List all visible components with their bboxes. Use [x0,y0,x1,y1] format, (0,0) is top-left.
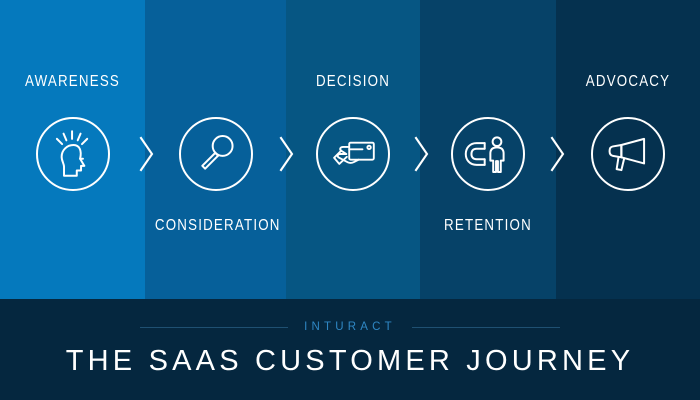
brand-rule-left [140,327,288,328]
icon-circle-advocacy [591,117,665,191]
journey-stages: AWARENESS [0,0,700,299]
icon-circle-consideration [179,117,253,191]
brand-rule-right [412,327,560,328]
icon-circle-retention [451,117,525,191]
brand-row: INTURACT [0,321,700,333]
hand-credit-card-icon [318,119,388,189]
stage-retention: RETENTION [420,0,556,299]
stage-decision: DECISION [286,0,420,299]
stage-consideration: CONSIDERATION [145,0,286,299]
page-title: THE SAAS CUSTOMER JOURNEY [0,345,700,378]
brand-name: INTURACT [304,321,396,333]
stage-label-consideration: CONSIDERATION [155,217,276,235]
stage-advocacy: ADVOCACY [556,0,700,299]
stage-label-retention: RETENTION [430,217,547,235]
saas-customer-journey-infographic: AWARENESS [0,0,700,400]
megaphone-icon [593,119,663,189]
icon-circle-awareness [36,117,110,191]
stage-label-decision: DECISION [295,73,410,91]
lightbulb-head-icon [38,119,108,189]
stage-label-advocacy: ADVOCACY [566,73,690,91]
magnet-person-icon [453,119,523,189]
stage-label-awareness: AWARENESS [10,73,135,91]
title-banner: INTURACT THE SAAS CUSTOMER JOURNEY [0,299,700,400]
stage-awareness: AWARENESS [0,0,145,299]
icon-circle-decision [316,117,390,191]
magnifying-glass-icon [181,119,251,189]
